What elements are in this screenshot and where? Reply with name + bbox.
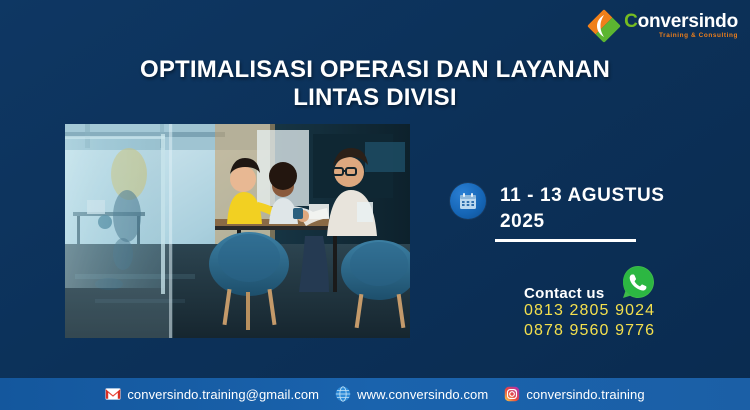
footer-instagram-item[interactable]: conversindo.training <box>504 386 644 402</box>
footer-website-item[interactable]: www.conversindo.com <box>335 386 488 402</box>
title-line-1: OPTIMALISASI OPERASI DAN LAYANAN <box>140 56 610 83</box>
event-date-line-1: 11 - 13 AGUSTUS <box>500 183 665 209</box>
contact-block: Contact us 0813 2805 9024 0878 9560 9776 <box>524 286 744 342</box>
event-date: 11 - 13 AGUSTUS 2025 <box>500 183 665 234</box>
business-meeting-photo <box>65 124 410 338</box>
logo-word-first: C <box>624 11 638 32</box>
brand-logo: Conversindo Training & Consulting <box>589 11 738 41</box>
title-line-2: LINTAS DIVISI <box>0 84 750 112</box>
logo-wordmark: Conversindo <box>624 12 738 31</box>
event-date-line-2: 2025 <box>500 209 665 235</box>
instagram-icon <box>504 386 520 402</box>
footer-email-text: conversindo.training@gmail.com <box>127 387 319 402</box>
poster-title: OPTIMALISASI OPERASI DAN LAYANAN LINTAS … <box>0 56 750 112</box>
event-date-block: 11 - 13 AGUSTUS 2025 <box>450 183 665 234</box>
logo-word-rest: onversindo <box>638 11 738 32</box>
contact-phone-2[interactable]: 0878 9560 9776 <box>524 321 744 341</box>
footer-website-text: www.conversindo.com <box>357 387 488 402</box>
globe-icon <box>335 386 351 402</box>
contact-phone-1[interactable]: 0813 2805 9024 <box>524 301 744 321</box>
footer-email-item[interactable]: conversindo.training@gmail.com <box>105 386 319 402</box>
event-poster: Conversindo Training & Consulting OPTIMA… <box>0 0 750 410</box>
contact-heading: Contact us <box>524 286 744 301</box>
footer-instagram-text: conversindo.training <box>526 387 644 402</box>
gmail-icon <box>105 386 121 402</box>
calendar-icon <box>450 183 486 219</box>
logo-tagline: Training & Consulting <box>624 33 738 39</box>
footer-bar: conversindo.training@gmail.com www.conve… <box>0 378 750 410</box>
date-divider <box>495 239 636 242</box>
conversindo-diamond-icon <box>589 11 619 41</box>
